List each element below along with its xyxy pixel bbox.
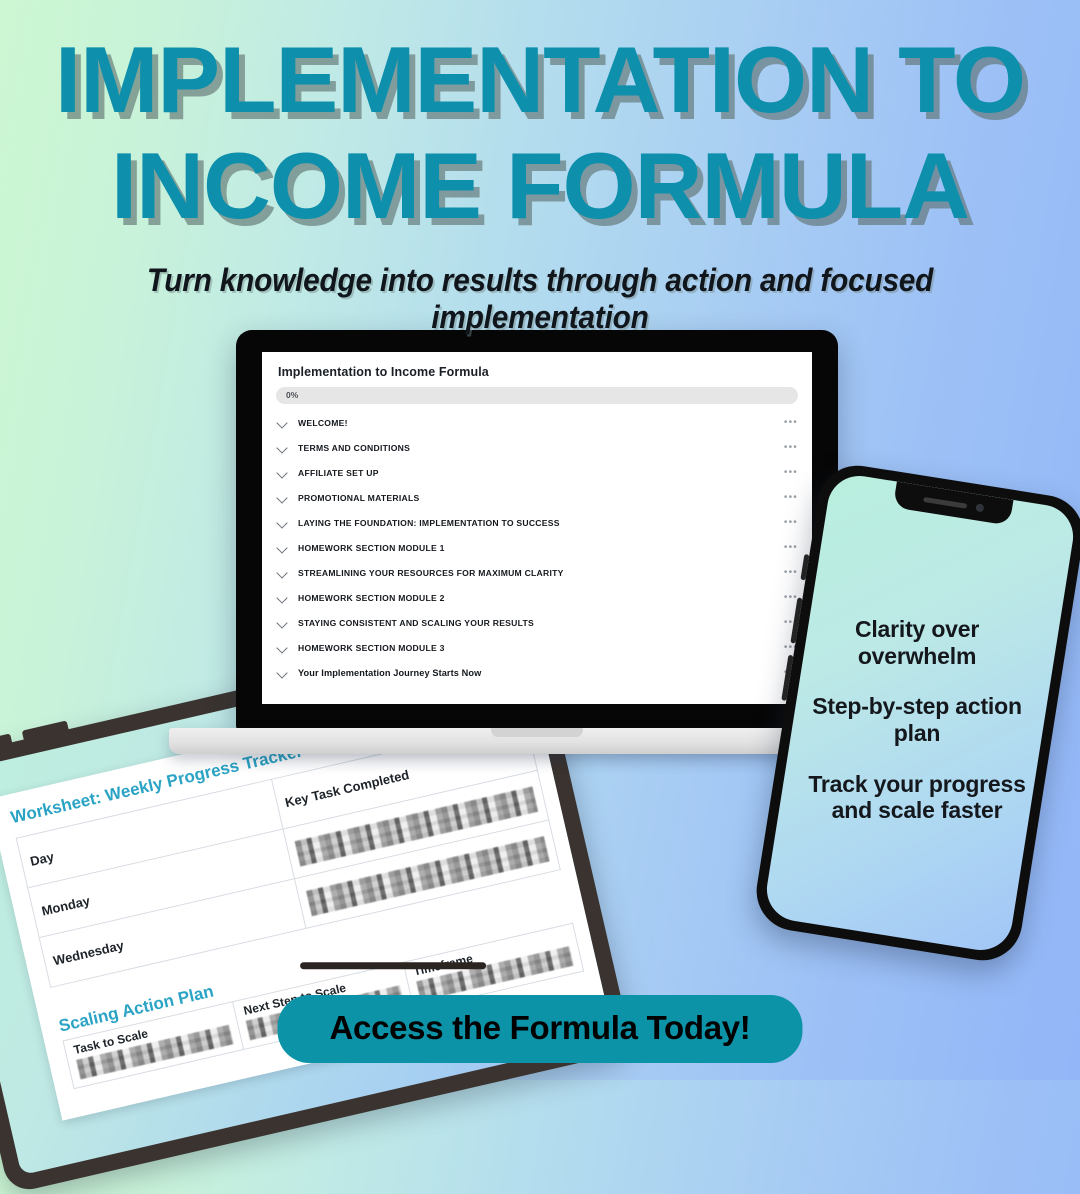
course-title: Implementation to Income Formula <box>278 365 489 379</box>
camera-icon <box>975 503 984 512</box>
module-label: STAYING CONSISTENT AND SCALING YOUR RESU… <box>298 618 534 628</box>
redacted-content <box>416 946 574 1001</box>
progress-label: 0% <box>286 390 298 400</box>
module-label: TERMS AND CONDITIONS <box>298 443 410 453</box>
redacted-content <box>76 1025 234 1080</box>
module-row[interactable]: AFFILIATE SET UP ••• <box>262 460 812 485</box>
chevron-down-icon[interactable] <box>276 666 289 679</box>
stylus-pen <box>300 962 486 969</box>
page-subtitle: Turn knowledge into results through acti… <box>38 262 1042 336</box>
chevron-down-icon[interactable] <box>276 466 289 479</box>
module-label: HOMEWORK SECTION MODULE 1 <box>298 543 445 553</box>
laptop-device: Implementation to Income Formula 0% WELC… <box>236 330 838 750</box>
row-menu-icon[interactable]: ••• <box>784 543 798 553</box>
laptop-lid: Implementation to Income Formula 0% WELC… <box>236 330 838 730</box>
module-row[interactable]: Your Implementation Journey Starts Now •… <box>262 660 812 685</box>
chevron-down-icon[interactable] <box>276 491 289 504</box>
row-menu-icon[interactable]: ••• <box>784 568 798 578</box>
chevron-down-icon[interactable] <box>276 641 289 654</box>
phone-benefit-list: Clarity over overwhelm Step-by-step acti… <box>793 616 1041 848</box>
module-row[interactable]: TERMS AND CONDITIONS ••• <box>262 435 812 460</box>
chevron-down-icon[interactable] <box>276 541 289 554</box>
module-label: PROMOTIONAL MATERIALS <box>298 493 419 503</box>
module-row[interactable]: WELCOME! ••• <box>262 410 812 435</box>
module-label: Your Implementation Journey Starts Now <box>298 668 481 678</box>
module-label: STREAMLINING YOUR RESOURCES FOR MAXIMUM … <box>298 568 564 578</box>
chevron-down-icon[interactable] <box>276 616 289 629</box>
module-row[interactable]: HOMEWORK SECTION MODULE 2 ••• <box>262 585 812 610</box>
module-row[interactable]: STREAMLINING YOUR RESOURCES FOR MAXIMUM … <box>262 560 812 585</box>
module-label: HOMEWORK SECTION MODULE 3 <box>298 643 445 653</box>
module-row[interactable]: HOMEWORK SECTION MODULE 1 ••• <box>262 535 812 560</box>
speaker-icon <box>923 496 967 508</box>
module-row[interactable]: LAYING THE FOUNDATION: IMPLEMENTATION TO… <box>262 510 812 535</box>
module-label: WELCOME! <box>298 418 348 428</box>
chevron-down-icon[interactable] <box>276 516 289 529</box>
headline-line-2: INCOME FORMULA <box>0 140 1080 232</box>
headline-line-1: IMPLEMENTATION TO <box>0 34 1080 126</box>
row-menu-icon[interactable]: ••• <box>784 443 798 453</box>
module-label: AFFILIATE SET UP <box>298 468 379 478</box>
chevron-down-icon[interactable] <box>276 416 289 429</box>
laptop-trackpad-notch <box>491 728 583 737</box>
chevron-down-icon[interactable] <box>276 591 289 604</box>
module-label: HOMEWORK SECTION MODULE 2 <box>298 593 445 603</box>
chevron-down-icon[interactable] <box>276 566 289 579</box>
module-row[interactable]: PROMOTIONAL MATERIALS ••• <box>262 485 812 510</box>
module-row[interactable]: HOMEWORK SECTION MODULE 3 ••• <box>262 635 812 660</box>
course-progress-bar: 0% <box>276 387 798 404</box>
page-title: IMPLEMENTATION TO INCOME FORMULA <box>0 34 1080 232</box>
module-row[interactable]: STAYING CONSISTENT AND SCALING YOUR RESU… <box>262 610 812 635</box>
module-list: WELCOME! ••• TERMS AND CONDITIONS ••• AF… <box>262 410 812 685</box>
row-menu-icon[interactable]: ••• <box>784 468 798 478</box>
row-menu-icon[interactable]: ••• <box>784 518 798 528</box>
benefit-item: Step-by-step action plan <box>793 693 1041 746</box>
benefit-item: Track your progress and scale faster <box>793 770 1041 823</box>
benefit-item: Clarity over overwhelm <box>793 616 1041 669</box>
row-menu-icon[interactable]: ••• <box>784 418 798 428</box>
laptop-screen: Implementation to Income Formula 0% WELC… <box>262 352 812 704</box>
row-menu-icon[interactable]: ••• <box>784 493 798 503</box>
module-label: LAYING THE FOUNDATION: IMPLEMENTATION TO… <box>298 518 560 528</box>
access-formula-cta-button[interactable]: Access the Formula Today! <box>277 995 802 1063</box>
chevron-down-icon[interactable] <box>276 441 289 454</box>
